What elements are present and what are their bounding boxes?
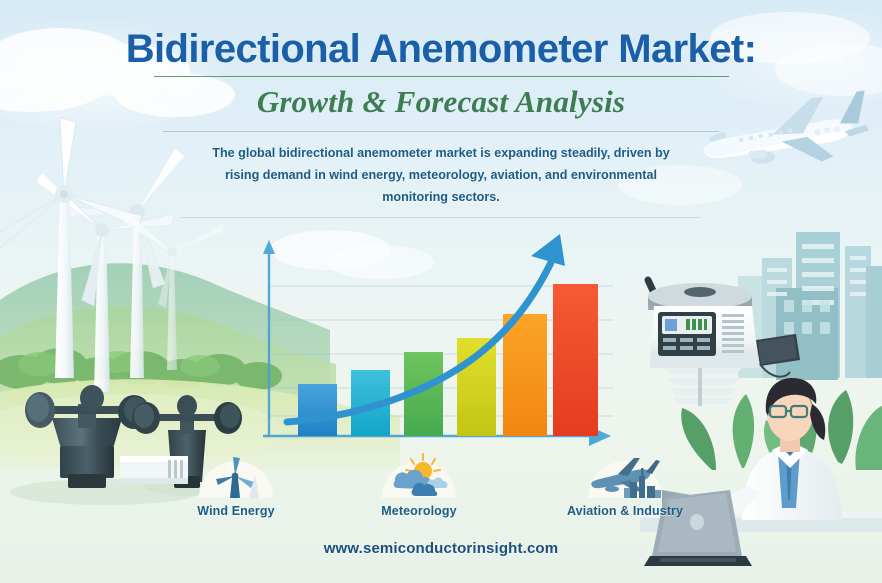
page-subtitle: Growth & Forecast Analysis xyxy=(0,84,882,120)
lede-paragraph: The global bidirectional anemometer mark… xyxy=(206,143,676,208)
airplane-factory-icon xyxy=(582,452,668,498)
category-row: Wind Energy xyxy=(0,452,882,532)
category-meteorology[interactable]: Meteorology xyxy=(357,452,481,518)
footer: www.semiconductorinsight.com xyxy=(0,540,882,558)
title-block: Bidirectional Anemometer Market: Growth … xyxy=(0,28,882,218)
sun-cloud-icon xyxy=(376,452,462,498)
infographic-poster: Bidirectional Anemometer Market: Growth … xyxy=(0,0,882,583)
wind-turbine-icon xyxy=(193,452,279,498)
bar-1 xyxy=(298,384,337,436)
lede-bottom-divider xyxy=(181,217,701,218)
category-label: Aviation & Industry xyxy=(535,504,715,518)
category-label: Wind Energy xyxy=(174,504,298,518)
category-aviation-industry[interactable]: Aviation & Industry xyxy=(535,452,715,518)
category-label: Meteorology xyxy=(357,504,481,518)
website-url-link[interactable]: www.semiconductorinsight.com xyxy=(324,540,559,557)
page-title: Bidirectional Anemometer Market: xyxy=(0,28,882,70)
y-axis xyxy=(263,240,275,436)
bar-5 xyxy=(503,314,547,436)
city-skyline xyxy=(738,232,882,380)
market-growth-chart xyxy=(255,228,625,454)
category-wind-energy[interactable]: Wind Energy xyxy=(174,452,298,518)
title-divider xyxy=(154,76,729,77)
lede-top-divider xyxy=(163,131,719,132)
bar-6 xyxy=(553,284,598,436)
